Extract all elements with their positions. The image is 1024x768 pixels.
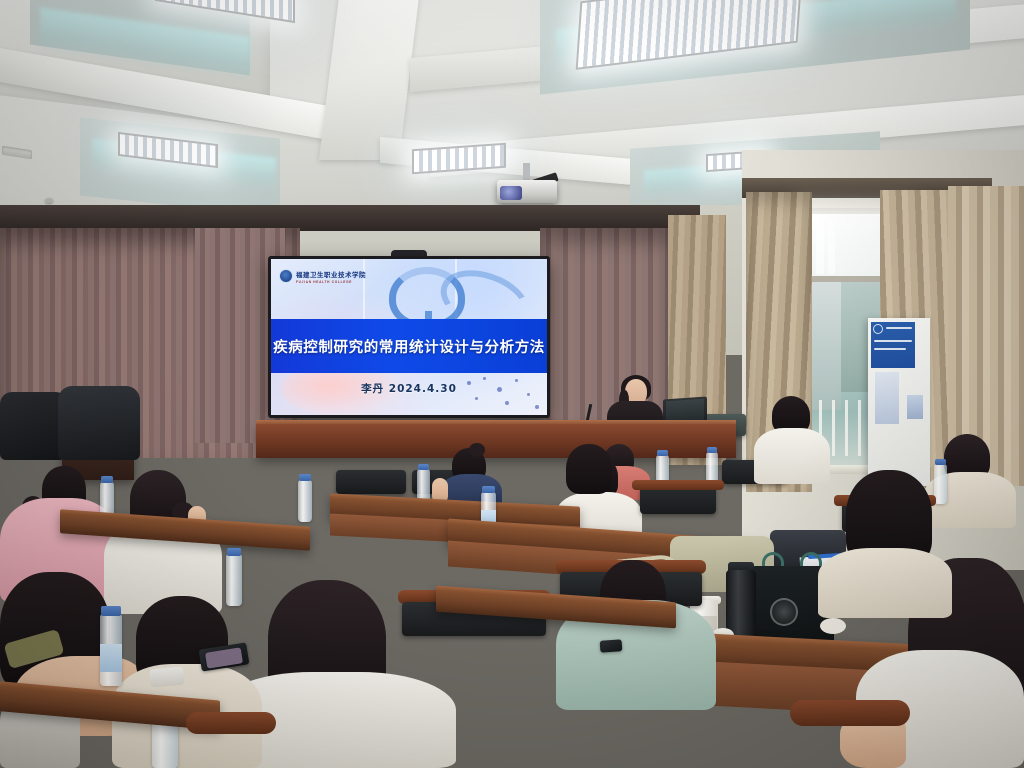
banner-text-line-2	[874, 340, 912, 342]
bottle-cap	[482, 486, 495, 493]
tissue	[149, 667, 184, 688]
slide-dot-map-decoration	[457, 375, 545, 413]
projector-lens-icon	[500, 186, 522, 200]
audience-person	[818, 548, 952, 618]
slide-dot	[505, 401, 509, 405]
slide-institution-text: 福建卫生职业技术学院 FUJIAN HEALTH COLLEGE	[296, 269, 366, 284]
building-outside-stripe-1	[816, 216, 824, 274]
water-bottle[interactable]	[226, 554, 242, 606]
institution-name-en: FUJIAN HEALTH COLLEGE	[296, 280, 366, 284]
bottle-cap	[707, 447, 717, 453]
slide-title: 疾病控制研究的常用统计设计与分析方法	[271, 319, 547, 373]
college-seal-icon	[279, 269, 293, 283]
slide-dot	[527, 393, 530, 396]
bottle-cap	[227, 548, 241, 556]
slide-dot	[497, 387, 502, 392]
seat-back[interactable]	[336, 470, 406, 494]
presentation-slide: 福建卫生职业技术学院 FUJIAN HEALTH COLLEGE 疾病控制研究的…	[271, 259, 547, 415]
tote-logo-icon	[770, 598, 798, 626]
sprinkler-head-1	[45, 198, 53, 203]
chair-armrest	[186, 712, 276, 734]
institution-name-cn: 福建卫生职业技术学院	[296, 269, 366, 279]
banner-text-line-1	[886, 327, 912, 329]
audience-person	[754, 428, 830, 484]
bottle-cap	[935, 459, 946, 465]
banner-text-line-3	[874, 348, 906, 350]
banner-logo-icon	[873, 324, 883, 334]
banner-tag-block	[907, 395, 923, 419]
lecture-hall-photo: 福建卫生职业技术学院 FUJIAN HEALTH COLLEGE 疾病控制研究的…	[0, 0, 1024, 768]
water-bottle[interactable]	[298, 480, 312, 522]
chair-armrest	[790, 700, 910, 726]
slide-dot	[483, 377, 486, 380]
building-outside-stripe-2	[828, 220, 835, 274]
bottle-cap	[657, 450, 668, 456]
backpack	[58, 386, 140, 460]
bottle-cap	[101, 476, 113, 483]
tissue	[820, 618, 846, 634]
seat-frame	[632, 480, 724, 490]
slide-institution-logo: 福建卫生职业技术学院 FUJIAN HEALTH COLLEGE	[279, 267, 366, 285]
slide-dot	[467, 381, 471, 385]
bottle-cap	[299, 474, 311, 481]
slide-dot	[475, 397, 478, 400]
slide-dot	[535, 405, 539, 409]
banner-photo-area	[875, 372, 899, 424]
bottle-cap	[418, 464, 429, 470]
audience-hair-bun	[469, 443, 485, 457]
smartphone[interactable]	[600, 639, 623, 653]
bottle-cap	[101, 606, 121, 616]
backpack	[0, 392, 66, 460]
slide-dot	[515, 379, 518, 382]
bottle-label	[100, 644, 122, 672]
audience-hair	[566, 444, 612, 494]
